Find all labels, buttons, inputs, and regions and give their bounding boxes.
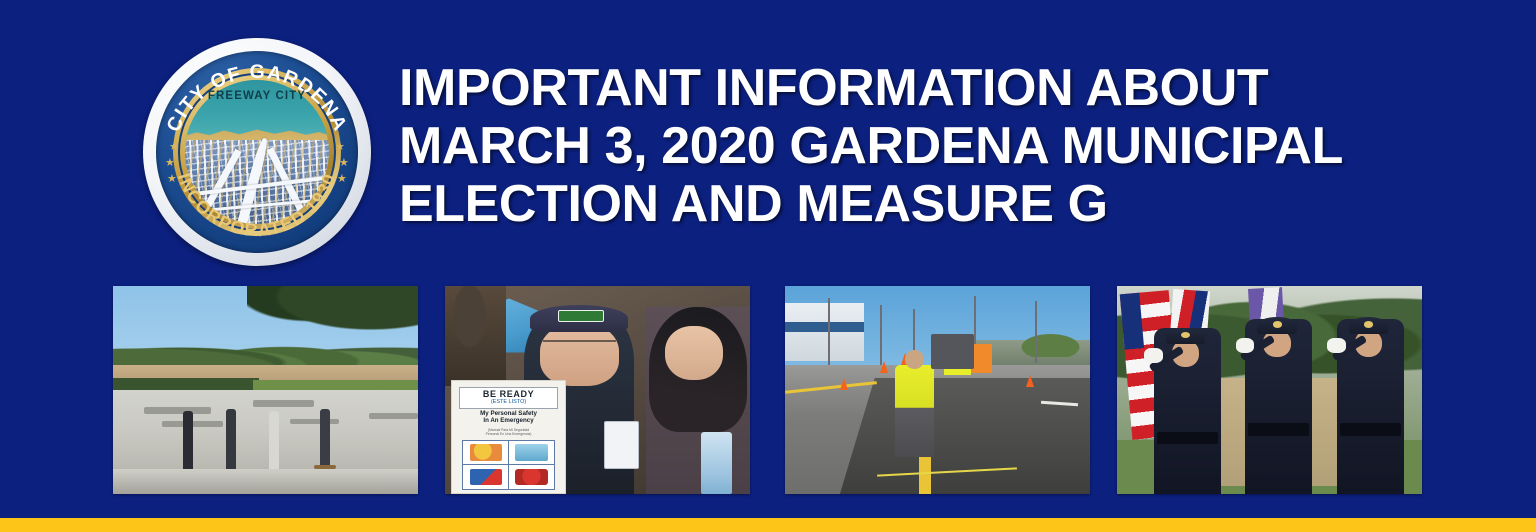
flyer-heading-line-2: In An Emergency (459, 417, 558, 425)
white-glove (1327, 338, 1345, 353)
water-supply-icon (515, 444, 547, 461)
foreground-wall (113, 469, 418, 494)
flyer-icon-cell (463, 465, 508, 488)
photo-police-honor-guard (1117, 286, 1422, 494)
traffic-cone (1026, 375, 1034, 387)
telephone-icon (515, 469, 547, 486)
flyer-title-spanish: (ESTE LISTO) (491, 399, 526, 406)
skate-ledge (253, 400, 314, 406)
worker-head (905, 350, 923, 369)
photo-emergency-preparedness: BE READY (ESTE LISTO) My Personal Safety… (445, 286, 750, 494)
cap-logo-patch (558, 310, 604, 322)
star-icon: ★ (335, 142, 345, 153)
photo-skate-park (113, 286, 418, 494)
photo-strip: BE READY (ESTE LISTO) My Personal Safety… (113, 286, 1424, 494)
warehouse-building (785, 303, 864, 361)
headline-line-2: MARCH 3, 2020 GARDENA MUNICIPAL (399, 117, 1509, 175)
headline-line-1: IMPORTANT INFORMATION ABOUT (399, 59, 1509, 117)
gold-accent-bar (0, 518, 1536, 532)
be-ready-flyer: BE READY (ESTE LISTO) My Personal Safety… (451, 380, 566, 494)
eyeglasses (543, 340, 616, 350)
skateboarder (320, 409, 330, 473)
road-worker (895, 365, 935, 457)
first-aid-icon (470, 469, 502, 486)
star-icon: ★ (169, 142, 179, 153)
skate-bench (369, 413, 418, 419)
tree-trunk (445, 286, 506, 386)
duty-belt (1340, 423, 1401, 435)
utility-pole (1035, 301, 1037, 363)
flyer-title-box: BE READY (ESTE LISTO) (459, 387, 558, 408)
skate-bench (290, 419, 339, 424)
flyer-icon-cell (509, 441, 554, 464)
roadside-shrubs (1017, 332, 1084, 357)
tree-canopy (247, 286, 418, 340)
election-banner: FREEWAY CITY ★ ★ ★ ★ ★ ★ CITY OF GARDENA… (0, 0, 1536, 532)
flyer-icon-cell (509, 465, 554, 488)
flyer-heading-line-1: My Personal Safety (459, 410, 558, 418)
hat-badge-icon (1364, 321, 1373, 327)
paving-machine (931, 334, 974, 369)
water-bottle (701, 432, 732, 494)
skateboarder (226, 409, 236, 473)
hat-badge-icon (1181, 332, 1190, 338)
star-icon: ★ (167, 174, 177, 185)
utility-pole (828, 298, 830, 369)
star-icon: ★ (337, 174, 347, 185)
traffic-cone (880, 361, 888, 373)
seal-center-text: FREEWAY CITY (143, 90, 371, 102)
star-icon: ★ (165, 158, 175, 169)
flyer-title: BE READY (483, 390, 534, 399)
man-face (540, 323, 619, 385)
family-icon (470, 444, 502, 461)
white-glove (1144, 348, 1162, 363)
flyer-subheading-line-2: Personal En Una Emergencia) (463, 432, 553, 436)
flyer-subheading: (Manual Para Mi Seguridad Personal En Un… (463, 428, 553, 437)
flyer-icon-cell (463, 441, 508, 464)
skateboarder (183, 411, 193, 473)
crew-member (971, 344, 992, 373)
flyer-heading: My Personal Safety In An Emergency (459, 410, 558, 425)
white-glove (1236, 338, 1254, 353)
skateboarder (269, 411, 279, 473)
star-icon: ★ (339, 158, 349, 169)
duty-belt (1157, 432, 1218, 444)
duty-belt (1248, 423, 1309, 435)
flyer-icon-grid (462, 440, 555, 489)
woman-face (665, 326, 723, 380)
skate-ledge (144, 407, 211, 414)
id-badge (604, 421, 640, 469)
city-seal: FREEWAY CITY ★ ★ ★ ★ ★ ★ CITY OF GARDENA… (143, 38, 371, 266)
traffic-cone (840, 378, 848, 390)
utility-pole (880, 305, 882, 367)
seal-stars: ★ ★ ★ ★ ★ ★ (143, 38, 371, 266)
headline-line-3: ELECTION AND MEASURE G (399, 175, 1509, 233)
hat-badge-icon (1273, 321, 1282, 327)
photo-street-paving (785, 286, 1090, 494)
banner-headline: IMPORTANT INFORMATION ABOUT MARCH 3, 202… (399, 59, 1509, 233)
